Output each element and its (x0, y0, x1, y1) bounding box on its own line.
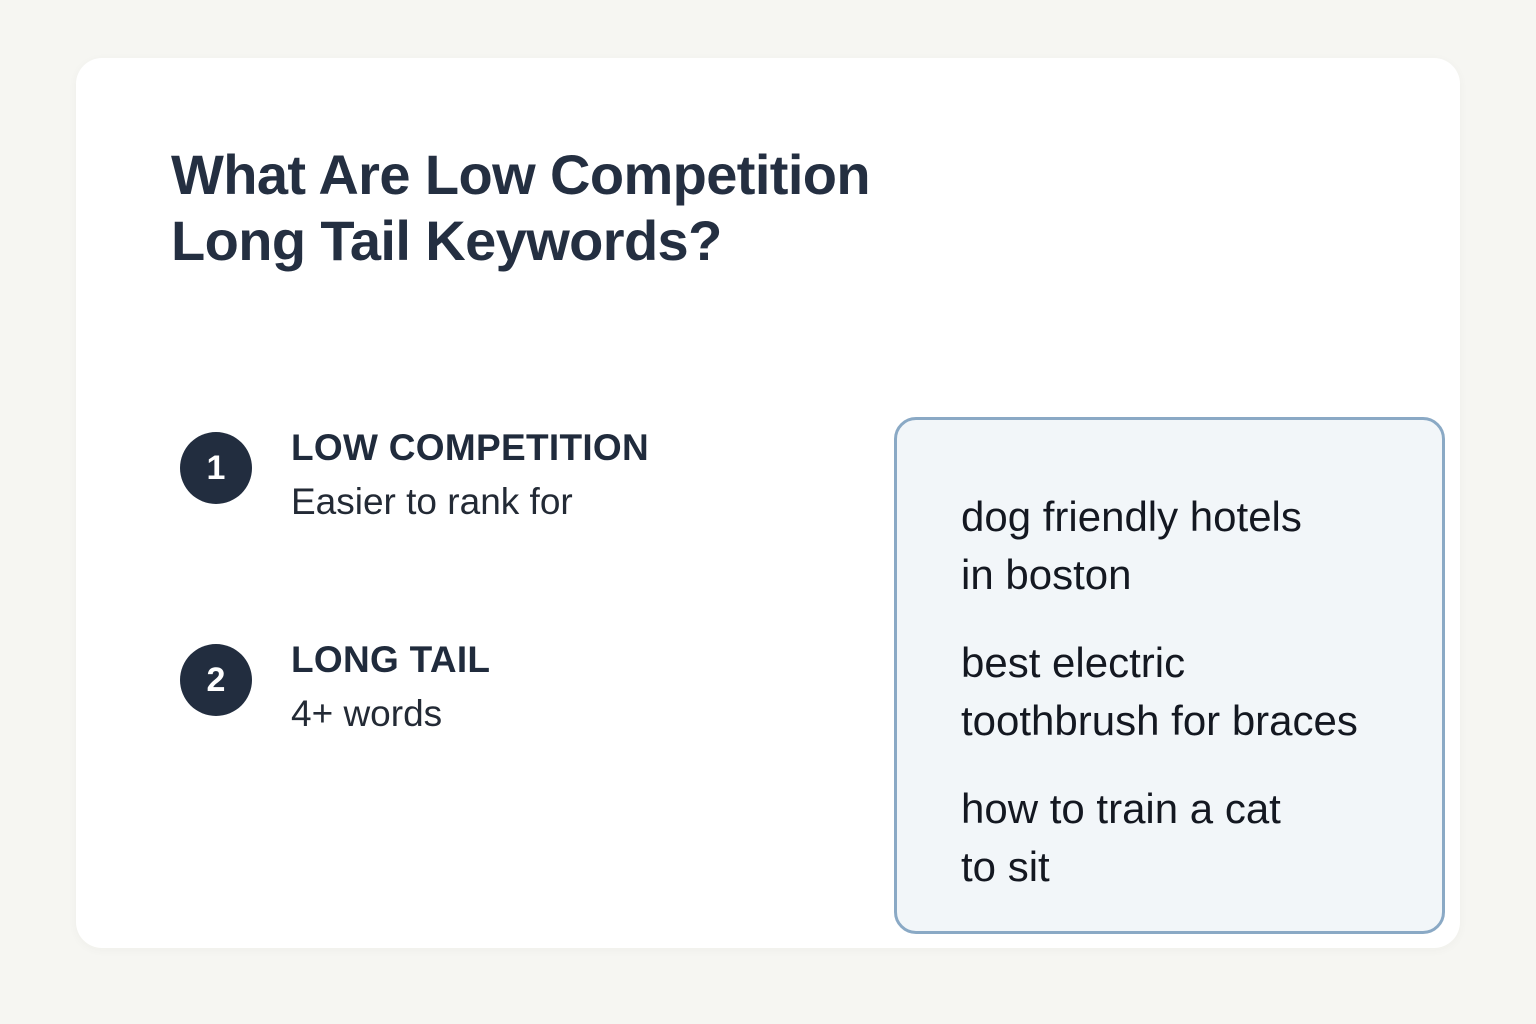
keyword-example-line: in boston (961, 546, 1402, 604)
keyword-example: dog friendly hotels in boston (961, 488, 1402, 604)
keyword-example-line: best electric (961, 634, 1402, 692)
point-detail: Easier to rank for (291, 481, 800, 524)
point-number-badge: 2 (180, 644, 252, 716)
content-card: What Are Low Competition Long Tail Keywo… (76, 58, 1460, 948)
page-title-line-2: Long Tail Keywords? (171, 208, 951, 274)
page-title: What Are Low Competition Long Tail Keywo… (171, 142, 951, 273)
keyword-example-line: dog friendly hotels (961, 488, 1402, 546)
keyword-example: how to train a cat to sit (961, 780, 1402, 896)
point-label: LONG TAIL (291, 640, 800, 681)
keyword-example-line: to sit (961, 838, 1402, 896)
point-detail: 4+ words (291, 693, 800, 736)
keyword-example-line: how to train a cat (961, 780, 1402, 838)
keyword-example: best electric toothbrush for braces (961, 634, 1402, 750)
key-point-item: 2 LONG TAIL 4+ words (180, 640, 800, 760)
key-points-list: 1 LOW COMPETITION Easier to rank for 2 L… (180, 428, 800, 760)
keyword-example-line: toothbrush for braces (961, 692, 1402, 750)
infographic-canvas: What Are Low Competition Long Tail Keywo… (0, 0, 1536, 1024)
point-label: LOW COMPETITION (291, 428, 800, 469)
keyword-examples-box: dog friendly hotels in boston best elect… (894, 417, 1445, 934)
page-title-line-1: What Are Low Competition (171, 142, 951, 208)
point-number-badge: 1 (180, 432, 252, 504)
key-point-item: 1 LOW COMPETITION Easier to rank for (180, 428, 800, 548)
